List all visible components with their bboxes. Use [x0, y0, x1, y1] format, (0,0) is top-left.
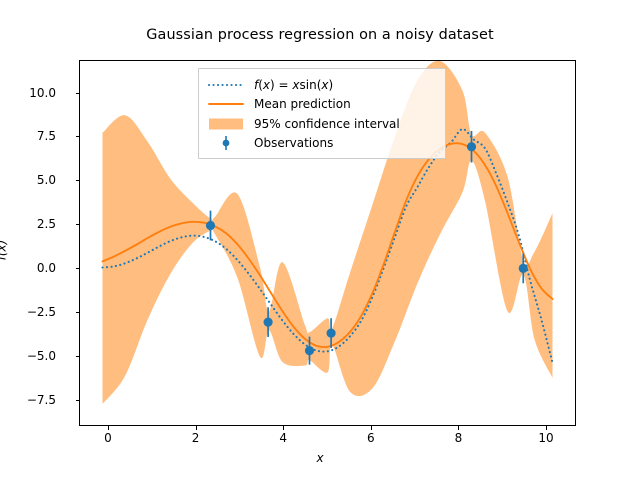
legend-label-true-function: f(x) = xsin(x) [254, 78, 333, 92]
xtick-label: 2 [192, 431, 200, 445]
observation-marker [467, 142, 476, 151]
legend-label-mean-prediction: Mean prediction [254, 97, 351, 111]
observation-marker [327, 329, 336, 338]
ytick-mark [76, 224, 80, 225]
y-axis-label-text: f(x) [0, 240, 8, 261]
ytick-mark [76, 180, 80, 181]
legend: f(x) = xsin(x) Mean prediction 95% confi… [198, 68, 446, 159]
ytick-label: 7.5 [37, 129, 56, 143]
observation-marker [264, 318, 273, 327]
xtick-mark [546, 426, 547, 430]
fill-patch-icon [207, 115, 245, 133]
legend-item-confidence-interval: 95% confidence interval [207, 114, 437, 134]
xtick-mark [283, 426, 284, 430]
xtick-mark [458, 426, 459, 430]
dotted-line-icon [207, 76, 245, 94]
legend-item-mean-prediction: Mean prediction [207, 95, 437, 115]
ytick-label: 10.0 [29, 86, 56, 100]
ytick-label: 5.0 [37, 173, 56, 187]
ytick-mark [76, 312, 80, 313]
xtick-label: 10 [538, 431, 553, 445]
legend-item-true-function: f(x) = xsin(x) [207, 75, 437, 95]
ytick-label: −5.0 [27, 349, 56, 363]
ytick-mark [76, 268, 80, 269]
ytick-mark [76, 93, 80, 94]
ytick-label: 2.5 [37, 217, 56, 231]
y-axis-label: f(x) [0, 240, 8, 261]
xtick-mark [371, 426, 372, 430]
ytick-mark [76, 356, 80, 357]
ytick-mark [76, 400, 80, 401]
solid-line-icon [207, 95, 245, 113]
xtick-label: 0 [104, 431, 112, 445]
ytick-label: −2.5 [27, 305, 56, 319]
xtick-label: 6 [367, 431, 375, 445]
ytick-label: 0.0 [37, 261, 56, 275]
legend-label-confidence-interval: 95% confidence interval [254, 117, 400, 131]
xtick-mark [108, 426, 109, 430]
xtick-label: 4 [279, 431, 287, 445]
matplotlib-figure: Gaussian process regression on a noisy d… [0, 0, 640, 480]
legend-label-observations: Observations [254, 136, 333, 150]
legend-item-observations: Observations [207, 134, 437, 154]
observation-marker [206, 221, 215, 230]
page-title: Gaussian process regression on a noisy d… [0, 27, 640, 43]
xtick-label: 8 [455, 431, 463, 445]
ytick-label: −7.5 [27, 393, 56, 407]
ytick-mark [76, 136, 80, 137]
xtick-mark [196, 426, 197, 430]
observation-marker [519, 264, 528, 273]
errorbar-marker-icon [207, 134, 245, 152]
x-axis-label: x [0, 451, 640, 465]
observation-marker [305, 346, 314, 355]
